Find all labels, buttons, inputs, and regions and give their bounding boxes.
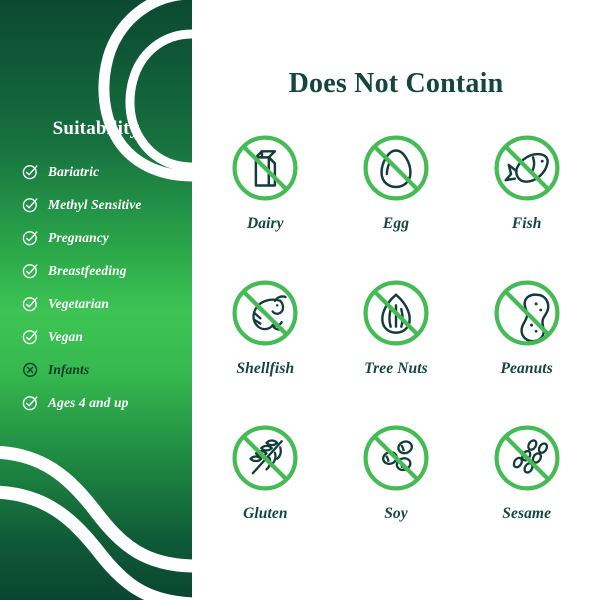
allergen-label: Shellfish xyxy=(236,360,294,378)
x-circle-icon xyxy=(22,361,39,378)
wheat-icon xyxy=(227,420,303,496)
list-item-label: Infants xyxy=(48,362,89,378)
list-item: Pregnancy xyxy=(22,221,190,254)
allergen-label: Sesame xyxy=(502,505,551,523)
allergen-label: Peanuts xyxy=(500,360,552,378)
check-circle-icon xyxy=(22,262,39,279)
almond-icon xyxy=(358,275,434,351)
list-item-label: Bariatric xyxy=(48,164,99,180)
page-title: Suitability xyxy=(0,118,192,140)
check-circle-icon xyxy=(22,196,39,213)
check-circle-icon xyxy=(22,229,39,246)
suitability-panel: Suitability Bariatric Methyl Sensitive xyxy=(0,0,192,600)
check-circle-icon xyxy=(22,328,39,345)
allergen-cell-soy: Soy xyxy=(331,420,462,565)
allergen-cell-fish: Fish xyxy=(461,130,592,275)
list-item: Vegan xyxy=(22,320,190,353)
list-item-label: Vegetarian xyxy=(48,296,109,312)
milk-carton-icon xyxy=(227,130,303,206)
allergen-cell-egg: Egg xyxy=(331,130,462,275)
infographic-canvas: Suitability Bariatric Methyl Sensitive xyxy=(0,0,600,600)
allergen-cell-sesame: Sesame xyxy=(461,420,592,565)
allergen-label: Egg xyxy=(383,215,409,233)
list-item: Vegetarian xyxy=(22,287,190,320)
section-heading: Does Not Contain xyxy=(192,68,600,100)
list-item: Methyl Sensitive xyxy=(22,188,190,221)
allergen-cell-shellfish: Shellfish xyxy=(200,275,331,420)
check-circle-icon xyxy=(22,394,39,411)
list-item-label: Vegan xyxy=(48,329,83,345)
list-item-label: Pregnancy xyxy=(48,230,109,246)
allergen-label: Fish xyxy=(512,215,542,233)
allergen-label: Soy xyxy=(384,505,408,523)
check-circle-icon xyxy=(22,295,39,312)
list-item: Infants xyxy=(22,353,190,386)
fish-icon xyxy=(489,130,565,206)
list-item: Breastfeeding xyxy=(22,254,190,287)
allergen-cell-dairy: Dairy xyxy=(200,130,331,275)
soybean-icon xyxy=(358,420,434,496)
allergen-cell-tree-nuts: Tree Nuts xyxy=(331,275,462,420)
list-item-label: Methyl Sensitive xyxy=(48,197,141,213)
check-circle-icon xyxy=(22,163,39,180)
shrimp-icon xyxy=(227,275,303,351)
list-item: Bariatric xyxy=(22,155,190,188)
peanut-icon xyxy=(489,275,565,351)
sesame-seeds-icon xyxy=(489,420,565,496)
list-item-label: Ages 4 and up xyxy=(48,395,128,411)
allergen-label: Dairy xyxy=(247,215,284,233)
allergen-cell-gluten: Gluten xyxy=(200,420,331,565)
allergen-cell-peanuts: Peanuts xyxy=(461,275,592,420)
list-item: Ages 4 and up xyxy=(22,386,190,419)
list-item-label: Breastfeeding xyxy=(48,263,127,279)
does-not-contain-panel: Does Not Contain Dairy xyxy=(192,0,600,600)
allergen-label: Gluten xyxy=(243,505,288,523)
suitability-list: Bariatric Methyl Sensitive Pregnancy xyxy=(22,155,190,419)
allergen-grid: Dairy Egg xyxy=(200,130,592,565)
allergen-label: Tree Nuts xyxy=(364,360,428,378)
egg-icon xyxy=(358,130,434,206)
